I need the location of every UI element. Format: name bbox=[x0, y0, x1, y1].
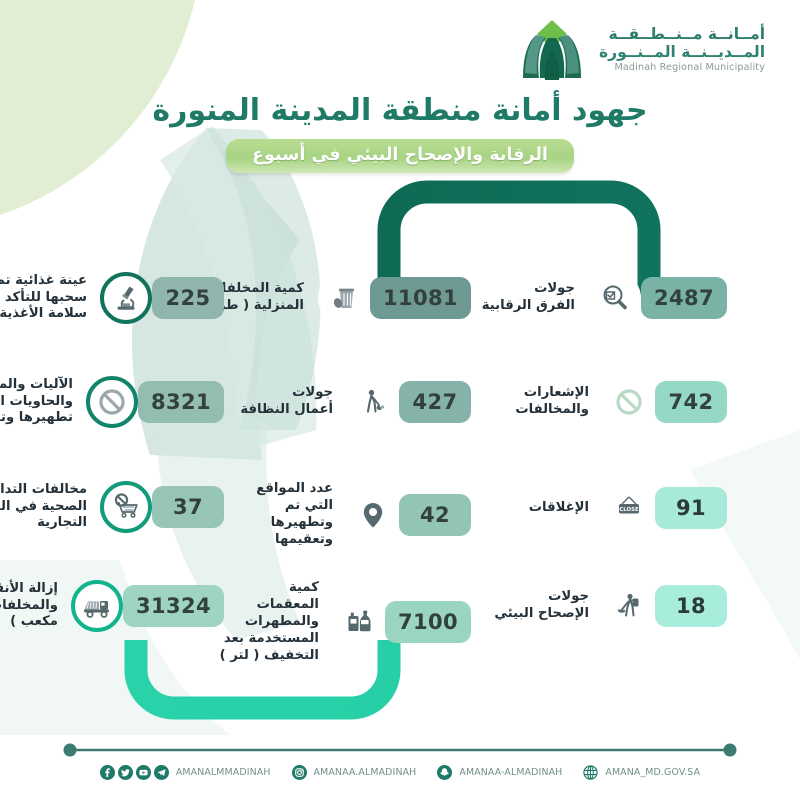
stat-label: الإشعارات والمخالفات bbox=[469, 385, 589, 419]
close-sign-icon: CLOSE bbox=[603, 482, 655, 534]
stat-label: عينة غذائية تم سحبها للتأكد من سلامة الأ… bbox=[0, 273, 87, 324]
social-handle[interactable]: AMANAA.ALMADINAH bbox=[314, 767, 417, 778]
stat-value: 427 bbox=[399, 381, 471, 423]
stat-label: إزالة الأنقاض والمخلفات ( متر مكعب ) bbox=[0, 581, 58, 632]
stat-node-health-violations: مخالفات التدابير الصحية في المراكز التجا… bbox=[0, 481, 215, 533]
prohibition-sign-icon bbox=[86, 376, 138, 428]
stat-value: 225 bbox=[152, 277, 224, 319]
prohibition-sign-icon bbox=[603, 376, 655, 428]
madinah-municipality-logo-icon bbox=[515, 18, 589, 82]
street-sweeper-icon bbox=[347, 376, 399, 428]
stat-value: 2487 bbox=[641, 277, 727, 319]
social-group-snapchat[interactable]: AMANAA-ALMADINAH bbox=[437, 765, 562, 780]
telegram-icon[interactable] bbox=[154, 765, 169, 780]
stat-value: 18 bbox=[655, 585, 727, 627]
stat-node-notices-violations: الإشعارات والمخالفات 742 bbox=[469, 376, 718, 428]
shopping-cart-ban-icon bbox=[100, 481, 152, 533]
logo-text-block: أمــانــة مــنــطــقــة المــديــنــة ال… bbox=[599, 26, 765, 73]
logo-arabic-line1: أمــانــة مــنــطــقــة bbox=[599, 26, 765, 43]
dump-truck-icon bbox=[71, 580, 123, 632]
stat-label: مخالفات التدابير الصحية في المراكز التجا… bbox=[0, 482, 87, 533]
globe-icon[interactable] bbox=[583, 765, 598, 780]
stat-node-cleaning-tours: جولات أعمال النظافة 427 bbox=[209, 376, 462, 428]
stat-value: 37 bbox=[152, 486, 224, 528]
social-group-instagram[interactable]: AMANAA.ALMADINAH bbox=[292, 765, 417, 780]
social-links-row: AMANALMMADINAH AMANAA.ALMADINAH AMANAA-A… bbox=[0, 765, 800, 780]
stat-node-environmental-tours: جولات الإصحاح البيئي 18 bbox=[469, 580, 718, 632]
infographic-canvas: أمــانــة مــنــطــقــة المــديــنــة ال… bbox=[0, 0, 800, 800]
stat-value: 91 bbox=[655, 487, 727, 529]
social-group-amanalmmadinah[interactable]: AMANALMMADINAH bbox=[100, 765, 271, 780]
youtube-icon[interactable] bbox=[136, 765, 151, 780]
stat-node-rubble-removal: إزالة الأنقاض والمخلفات ( متر مكعب ) 313… bbox=[0, 580, 215, 632]
stat-label: جولات الفرق الرقابية bbox=[455, 281, 575, 315]
stat-label: جولات أعمال النظافة bbox=[209, 385, 333, 419]
social-handle[interactable]: AMANAA-ALMADINAH bbox=[459, 767, 562, 778]
stat-node-closures: الإغلاقات CLOSE 91 bbox=[469, 482, 718, 534]
microscope-icon bbox=[100, 272, 152, 324]
stat-value: 42 bbox=[399, 494, 471, 536]
stat-label: الآليات والمعدات والحاويات التي تم تطهير… bbox=[0, 377, 73, 428]
svg-text:CLOSE: CLOSE bbox=[619, 507, 639, 513]
magnifier-check-icon bbox=[589, 272, 641, 324]
stat-value: 7100 bbox=[385, 601, 471, 643]
social-handle[interactable]: AMANALMMADINAH bbox=[176, 767, 271, 778]
instagram-icon[interactable] bbox=[292, 765, 307, 780]
stat-node-inspection-tours: جولات الفرق الرقابية 2487 bbox=[455, 272, 718, 324]
stat-label: جولات الإصحاح البيئي bbox=[469, 589, 589, 623]
footer-divider bbox=[62, 743, 738, 757]
facebook-icon[interactable] bbox=[100, 765, 115, 780]
stat-value: 31324 bbox=[123, 585, 224, 627]
social-group-website[interactable]: AMANA_MD.GOV.SA bbox=[583, 765, 700, 780]
logo-english-name: Madinah Regional Municipality bbox=[599, 63, 765, 74]
twitter-icon[interactable] bbox=[118, 765, 133, 780]
brand-logo: أمــانــة مــنــطــقــة المــديــنــة ال… bbox=[515, 14, 790, 86]
stat-node-sanitized-equipment: الآليات والمعدات والحاويات التي تم تطهير… bbox=[0, 376, 215, 428]
footer: AMANALMMADINAH AMANAA.ALMADINAH AMANAA-A… bbox=[0, 735, 800, 800]
logo-arabic-line2: المــديــنــة المــنــورة bbox=[599, 44, 765, 61]
social-handle[interactable]: AMANA_MD.GOV.SA bbox=[605, 767, 700, 778]
stat-value: 8321 bbox=[138, 381, 224, 423]
stat-value: 11081 bbox=[370, 277, 471, 319]
stat-label: عدد المواقع التي تم وتطهيرها وتعقيمها bbox=[209, 481, 333, 549]
stat-node-food-samples: عينة غذائية تم سحبها للتأكد من سلامة الأ… bbox=[0, 272, 215, 324]
stat-node-sanitized-sites: عدد المواقع التي تم وتطهيرها وتعقيمها 42 bbox=[209, 481, 462, 549]
trash-bin-icon bbox=[318, 272, 370, 324]
page-title: جهود أمانة منطقة المدينة المنورة bbox=[0, 92, 800, 130]
stat-label: الإغلاقات bbox=[469, 500, 589, 517]
disinfectant-bottles-icon bbox=[333, 596, 385, 648]
header: أمــانــة مــنــطــقــة المــديــنــة ال… bbox=[0, 0, 800, 92]
stat-value: 742 bbox=[655, 381, 727, 423]
map-pin-icon bbox=[347, 489, 399, 541]
snapchat-icon[interactable] bbox=[437, 765, 452, 780]
stat-node-disinfectant-volume: كمية المعقمات والمطهرات المستخدمة بعد ال… bbox=[195, 580, 462, 664]
title-section: جهود أمانة منطقة المدينة المنورة الرقابة… bbox=[0, 92, 800, 173]
subtitle-badge: الرقابة والإصحاح البيئي في أسبوع bbox=[226, 139, 574, 173]
sanitation-worker-icon bbox=[603, 580, 655, 632]
